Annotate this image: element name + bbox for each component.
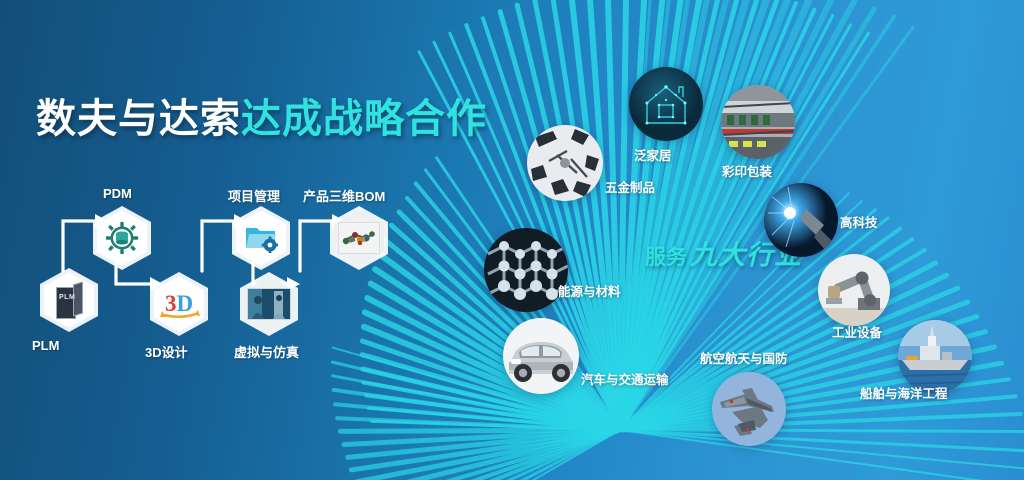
industry-circle-equipment[interactable] [818,254,890,326]
gear-database-icon [105,221,139,255]
molecular-lattice-photo [484,228,568,312]
flow-node-pdm[interactable] [93,206,151,270]
smart-home-icon [629,67,703,141]
flow-node-project-mgmt[interactable] [232,206,290,270]
flow-label-pdm: PDM [103,186,132,201]
hardware-tools-photo [527,125,603,201]
headline-white: 数夫与达索 [36,97,241,141]
flow-label-3d-design: 3D设计 [145,342,188,361]
industry-label-marine: 船舶与海洋工程 [860,383,948,402]
flow-node-bom[interactable] [330,206,388,270]
flow-node-plm[interactable]: PLM [40,268,98,332]
robot-arm-photo [818,254,890,326]
flow-label-plm: PLM [32,338,59,353]
industry-label-hardware: 五金制品 [605,177,655,196]
simulation-photo [247,288,291,320]
industry-circle-printing[interactable] [721,85,795,159]
cad-assembly-photo [338,222,380,254]
fighter-jet-photo [712,372,786,446]
robot-welding-photo [764,183,838,257]
ray-line [620,429,1024,480]
server-icon: PLM [56,283,82,317]
industry-label-hightech: 高科技 [840,212,878,231]
folder-gear-icon [244,223,278,253]
industry-circle-hardware[interactable] [527,125,603,201]
industry-circle-auto[interactable] [503,318,579,394]
industry-circle-hightech[interactable] [764,183,838,257]
flow-label-bom: 产品三维BOM [303,186,385,205]
industry-label-aerospace: 航空航天与国防 [700,348,788,367]
flow-label-simulation: 虚拟与仿真 [234,342,299,361]
headline-cyan: 达成战略合作 [241,97,487,141]
industry-label-auto: 汽车与交通运输 [581,369,669,388]
flow-label-project-mgmt: 项目管理 [228,186,280,205]
flow-node-3d-design[interactable]: 3D [150,272,208,336]
printing-press-photo [721,85,795,159]
industry-label-energy: 能源与材料 [558,281,621,300]
page-title: 数夫与达索达成战略合作 [36,86,487,144]
industry-label-printing: 彩印包装 [722,161,772,180]
industry-circle-home[interactable] [629,67,703,141]
industry-circle-energy[interactable] [484,228,568,312]
industry-label-equipment: 工业设备 [832,322,882,341]
flow-node-simulation[interactable] [240,272,298,336]
3d-logo-icon: 3D [159,289,199,319]
plm-flow-diagram: PLM PLM [0,170,420,370]
industry-label-home: 泛家居 [634,145,672,164]
service-prefix: 服务 [645,246,687,269]
car-photo [503,318,579,394]
promo-banner: 数夫与达索达成战略合作 PLM PLM [0,0,1024,480]
ray-line [620,429,1024,471]
industry-circle-aerospace[interactable] [712,372,786,446]
